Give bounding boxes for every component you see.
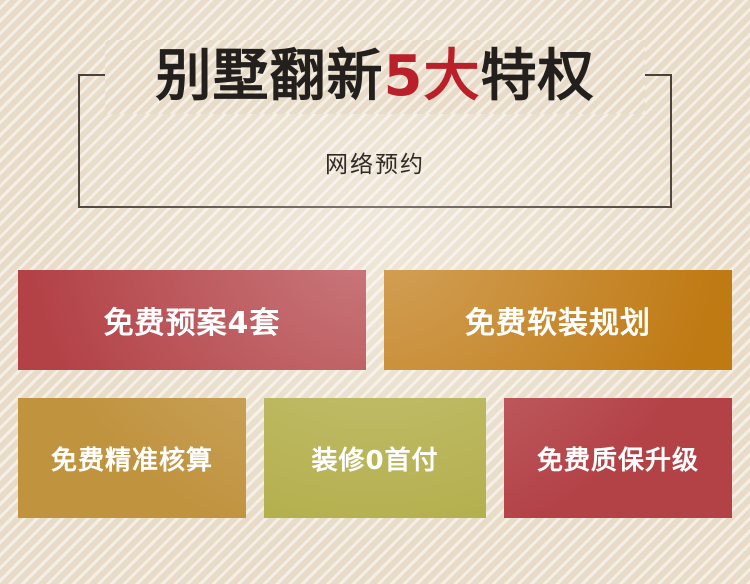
privilege-card-4-label: 装修0首付 — [311, 440, 438, 477]
privilege-card-1[interactable]: 免费预案4套 — [18, 270, 366, 370]
privilege-card-5-label: 免费质保升级 — [537, 440, 699, 477]
privilege-card-3[interactable]: 免费精准核算 — [18, 398, 246, 518]
privilege-card-3-label: 免费精准核算 — [51, 440, 213, 477]
page-title: 别墅翻新5大特权 — [0, 49, 750, 105]
privilege-card-5[interactable]: 免费质保升级 — [504, 398, 732, 518]
privilege-card-1-label: 免费预案4套 — [104, 298, 281, 342]
privilege-card-2-label: 免费软装规划 — [465, 298, 651, 342]
page-title-highlight: 5大 — [384, 44, 481, 109]
page-title-part-3: 特权 — [480, 44, 594, 109]
promo-banner: 别墅翻新5大特权 网络预约 免费预案4套 免费软装规划 免费精准核算 装修0首付… — [0, 0, 750, 584]
page-title-part-1: 别墅翻新 — [156, 44, 384, 109]
privilege-card-4[interactable]: 装修0首付 — [264, 398, 486, 518]
page-subtitle: 网络预约 — [0, 152, 750, 178]
privilege-card-2[interactable]: 免费软装规划 — [384, 270, 732, 370]
